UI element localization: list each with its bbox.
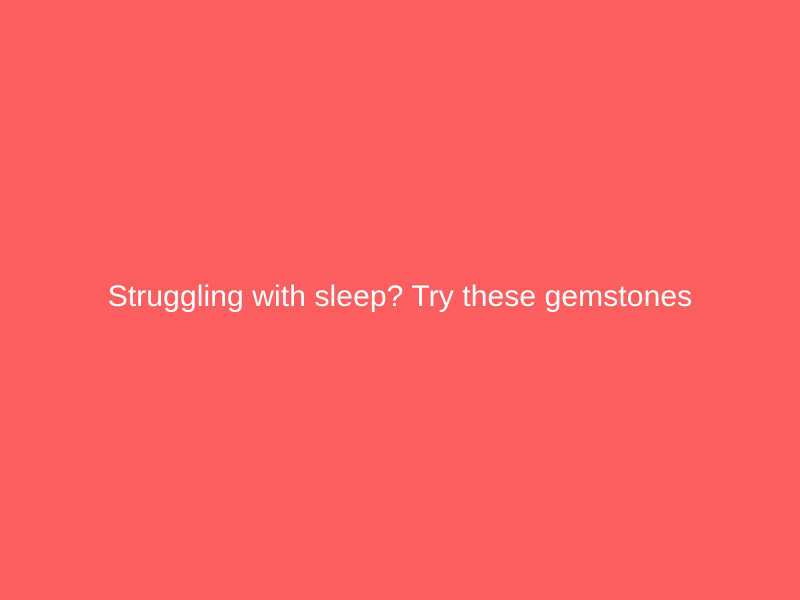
share-card: Struggling with sleep? Try these gemston…	[0, 0, 800, 600]
headline-text: Struggling with sleep? Try these gemston…	[50, 277, 750, 317]
headline-container: Struggling with sleep? Try these gemston…	[0, 0, 800, 600]
